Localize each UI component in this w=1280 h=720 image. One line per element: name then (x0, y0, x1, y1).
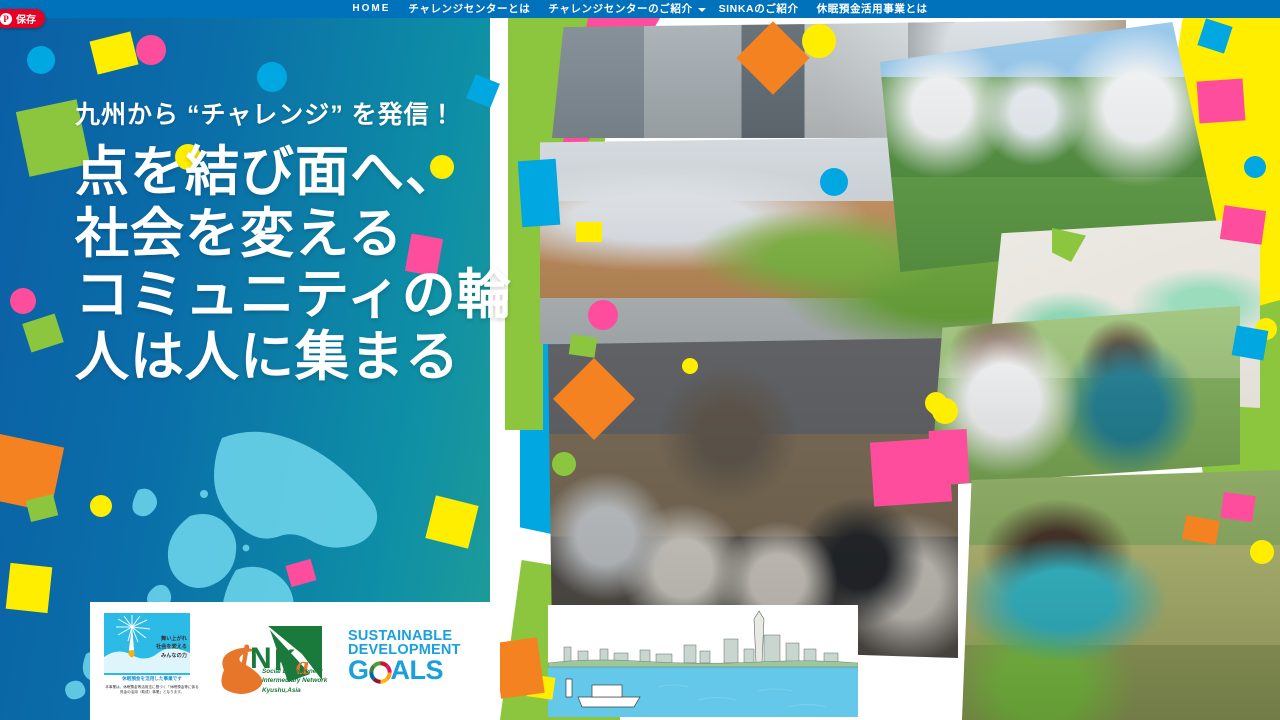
logo-sinka[interactable]: i N K a Social Entrepreneur Intermediary… (210, 624, 338, 698)
dandelion-illustration: 舞い上がれ 社会を変える みんなの力 (104, 613, 190, 675)
partner-logo-bar: 舞い上がれ 社会を変える みんなの力 休眠預金を活用した事業です 本事業は、休眠… (90, 602, 500, 720)
confetti-circle-yellow-4 (802, 24, 836, 58)
page-root: 九州から “チャレンジ” を発信！ 点を結び面へ、 社会を変える コミュニティの… (0, 0, 1280, 720)
confetti-circle-pink-2 (10, 288, 36, 314)
hero-headline-line-3: コミュニティの輪 (75, 268, 545, 324)
nav-center-intro[interactable]: チャレンジセンターのご紹介 (539, 0, 701, 18)
dormant-caption: 休眠預金を活用した事業です (104, 676, 200, 682)
dormant-slogan: 舞い上がれ 社会を変える みんなの力 (156, 635, 187, 660)
hero-tagline: 九州から “チャレンジ” を発信！ (75, 95, 545, 131)
confetti-circle-yellow-6 (682, 358, 698, 374)
confetti-circle-pink-4 (588, 300, 618, 330)
svg-text:i: i (240, 639, 250, 676)
dormant-fine-print: 本事業は、休眠預金等活用法に基づく「休眠預金等に係る資金の活用（助成）事業」とな… (104, 685, 200, 695)
sdgs-goals-als: ALS (391, 657, 444, 684)
confetti-circle-pink-1 (136, 35, 166, 65)
confetti-circle-cyan-1 (27, 46, 55, 74)
nav-home[interactable]: HOME (343, 0, 399, 18)
nav-about-center[interactable]: チャレンジセンターとは (399, 0, 539, 18)
sdgs-goals-row: G ALS (348, 657, 476, 684)
confetti-circle-cyan-4 (1244, 156, 1266, 178)
sdgs-goals-g: G (348, 657, 369, 684)
confetti-square-pink-4 (1220, 205, 1266, 245)
pinterest-save-label: 保存 (16, 11, 36, 26)
sinka-subtitle: Social Entrepreneur Intermediary Network… (262, 667, 327, 695)
confetti-square-cyan-4 (1232, 325, 1269, 360)
hero-headline-line-1: 点を結び面へ、 (75, 145, 545, 201)
nav-dormant-deposit[interactable]: 休眠預金活用事業とは (808, 0, 937, 18)
confetti-circle-yellow-10 (1250, 540, 1274, 564)
hero-headline-line-4: 人は人に集まる (75, 330, 545, 386)
sdgs-color-wheel-icon (369, 661, 392, 684)
fukuoka-skyline-art (548, 605, 858, 717)
confetti-circle-green-1 (552, 452, 576, 476)
confetti-circle-cyan-2 (257, 62, 287, 92)
confetti-circle-yellow-9 (928, 396, 948, 416)
confetti-circle-yellow-3 (90, 495, 112, 517)
confetti-square-yellow-4 (576, 222, 602, 242)
confetti-square-pink-6 (929, 429, 970, 485)
chevron-down-icon[interactable] (698, 8, 706, 12)
nav-list: HOME チャレンジセンターとは チャレンジセンターのご紹介 SINKAのご紹介… (343, 0, 936, 18)
logo-sdgs[interactable]: SUSTAINABLE DEVELOPMENT G (348, 628, 476, 694)
pinterest-icon: P (0, 13, 12, 25)
main-navigation-bar: HOME チャレンジセンターとは チャレンジセンターのご紹介 SINKAのご紹介… (0, 0, 1280, 18)
confetti-circle-cyan-3 (820, 168, 848, 196)
photo-two-men-smiling[interactable] (930, 306, 1240, 486)
confetti-square-yellow-2 (6, 563, 53, 613)
hero-headline-line-2: 社会を変える (75, 207, 545, 263)
photo-fukuoka-skyline[interactable] (548, 605, 858, 717)
pinterest-save-button[interactable]: P 保存 (0, 9, 45, 28)
nav-sinka-intro[interactable]: SINKAのご紹介 (710, 0, 808, 18)
confetti-square-pink-7 (1220, 492, 1255, 522)
logo-dormant-deposit[interactable]: 舞い上がれ 社会を変える みんなの力 休眠預金を活用した事業です 本事業は、休眠… (104, 613, 200, 709)
hero-headline-block: 九州から “チャレンジ” を発信！ 点を結び面へ、 社会を変える コミュニティの… (75, 95, 545, 385)
confetti-square-pink-3 (1197, 78, 1246, 123)
confetti-square-green-4 (569, 334, 598, 357)
confetti-square-orange-3 (493, 637, 544, 699)
